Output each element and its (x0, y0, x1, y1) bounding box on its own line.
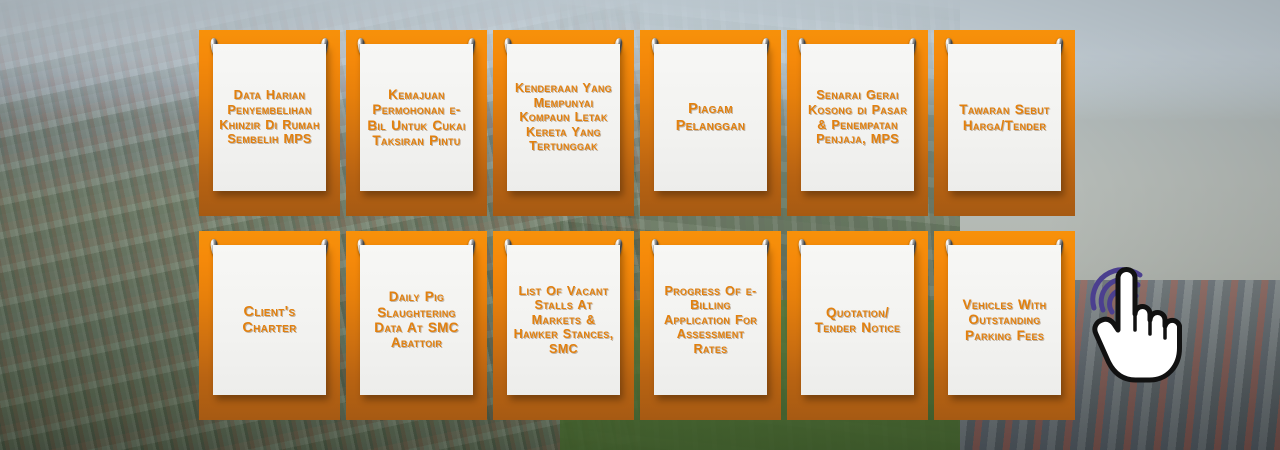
tile-label: Client's Charter (218, 304, 321, 337)
dataset-tile[interactable]: Kemajuan Permohonan e-Bil Untuk Cukai Ta… (346, 30, 487, 216)
tile-row-1: Data Harian Penyembelihan Khinzir Di Rum… (199, 30, 1081, 216)
tile-paper: Kenderaan Yang Mempunyai Kompaun Letak K… (507, 44, 620, 191)
tile-label: Piagam Pelanggan (659, 101, 762, 134)
tile-paper: Tawaran Sebut Harga/Tender (948, 44, 1061, 191)
tile-label: Kenderaan Yang Mempunyai Kompaun Letak K… (512, 81, 615, 154)
dataset-tile[interactable]: Kenderaan Yang Mempunyai Kompaun Letak K… (493, 30, 634, 216)
tile-paper: Kemajuan Permohonan e-Bil Untuk Cukai Ta… (360, 44, 473, 191)
tile-label: Progress Of e-Billing Application For As… (659, 284, 762, 357)
tile-paper: Progress Of e-Billing Application For As… (654, 245, 767, 395)
tile-paper: List Of Vacant Stalls At Markets & Hawke… (507, 245, 620, 395)
tile-label: Kemajuan Permohonan e-Bil Untuk Cukai Ta… (365, 87, 468, 149)
tile-paper: Quotation/ Tender Notice (801, 245, 914, 395)
tile-paper: Piagam Pelanggan (654, 44, 767, 191)
tile-paper: Client's Charter (213, 245, 326, 395)
tile-row-2: Client's Charter Daily Pig Slaughtering … (199, 231, 1081, 420)
tile-label: Quotation/ Tender Notice (806, 305, 909, 336)
dataset-tile[interactable]: Vehicles With Outstanding Parking Fees (934, 231, 1075, 420)
dataset-tile[interactable]: Piagam Pelanggan (640, 30, 781, 216)
dataset-tile[interactable]: Daily Pig Slaughtering Data At SMC Abatt… (346, 231, 487, 420)
dataset-tile[interactable]: Tawaran Sebut Harga/Tender (934, 30, 1075, 216)
tile-label: Tawaran Sebut Harga/Tender (953, 102, 1056, 133)
dataset-tile[interactable]: Quotation/ Tender Notice (787, 231, 928, 420)
dataset-tile[interactable]: Client's Charter (199, 231, 340, 420)
dataset-tile[interactable]: Data Harian Penyembelihan Khinzir Di Rum… (199, 30, 340, 216)
tile-label: List Of Vacant Stalls At Markets & Hawke… (512, 284, 615, 357)
tile-label: Daily Pig Slaughtering Data At SMC Abatt… (365, 289, 468, 351)
dataset-tile[interactable]: Progress Of e-Billing Application For As… (640, 231, 781, 420)
tile-paper: Daily Pig Slaughtering Data At SMC Abatt… (360, 245, 473, 395)
tile-label: Vehicles With Outstanding Parking Fees (953, 297, 1056, 343)
tile-label: Data Harian Penyembelihan Khinzir Di Rum… (218, 88, 321, 146)
tile-paper: Vehicles With Outstanding Parking Fees (948, 245, 1061, 395)
dataset-tile-grid: Data Harian Penyembelihan Khinzir Di Rum… (199, 30, 1081, 420)
tile-label: Senarai Gerai Kosong di Pasar & Penempat… (806, 88, 909, 146)
tile-paper: Senarai Gerai Kosong di Pasar & Penempat… (801, 44, 914, 191)
tile-paper: Data Harian Penyembelihan Khinzir Di Rum… (213, 44, 326, 191)
screenshot-stage: Data Harian Penyembelihan Khinzir Di Rum… (0, 0, 1280, 450)
dataset-tile[interactable]: List Of Vacant Stalls At Markets & Hawke… (493, 231, 634, 420)
dataset-tile[interactable]: Senarai Gerai Kosong di Pasar & Penempat… (787, 30, 928, 216)
